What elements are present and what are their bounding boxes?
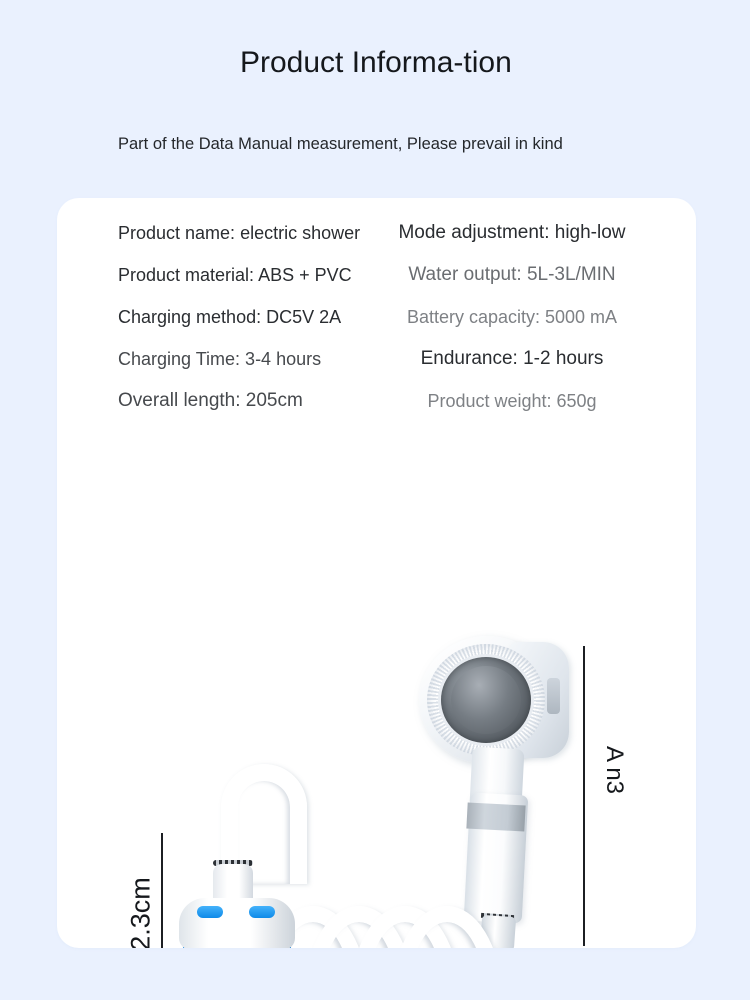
spec-item: Mode adjustment: high-low — [367, 212, 657, 254]
side-measurement-label: A n3 — [600, 710, 628, 830]
height-measurement-label: 12.3cm — [126, 862, 157, 949]
page-title: Product Informa-tion — [240, 44, 540, 81]
spec-item: Charging method: DC5V 2A — [118, 296, 373, 338]
shower-head-filter-inner — [451, 666, 521, 734]
spec-column-right: Mode adjustment: high-low Water output: … — [367, 212, 657, 422]
pump-shoulder — [179, 898, 295, 948]
product-information-page: Product Informa-tion Part of the Data Ma… — [0, 0, 750, 1000]
shower-handle-collar — [466, 803, 525, 832]
shower-head-tab — [547, 678, 560, 714]
pump-battery-unit — [177, 876, 297, 948]
shower-head-assembly — [397, 636, 597, 936]
pump-button-left — [197, 906, 223, 918]
spec-item: Endurance: 1-2 hours — [367, 338, 657, 380]
spec-item: Product name: electric shower — [118, 212, 373, 254]
page-subtitle: Part of the Data Manual measurement, Ple… — [118, 133, 638, 155]
pump-button-right — [249, 906, 275, 918]
shower-head-filter-face — [441, 657, 531, 743]
spec-column-left: Product name: electric shower Product ma… — [118, 212, 373, 422]
specification-list: Product name: electric shower Product ma… — [57, 198, 696, 408]
spec-item: Product material: ABS + PVC — [118, 254, 373, 296]
spec-item: Water output: 5L-3L/MIN — [367, 254, 657, 296]
height-measurement-line — [161, 833, 163, 948]
spec-item: Charging Time: 3-4 hours — [118, 338, 373, 380]
spec-card: Product name: electric shower Product ma… — [57, 198, 696, 948]
spec-item: Battery capacity: 5000 mA — [367, 296, 657, 338]
product-photo: 12.3cm 6.5cm A n3 — [57, 406, 696, 948]
